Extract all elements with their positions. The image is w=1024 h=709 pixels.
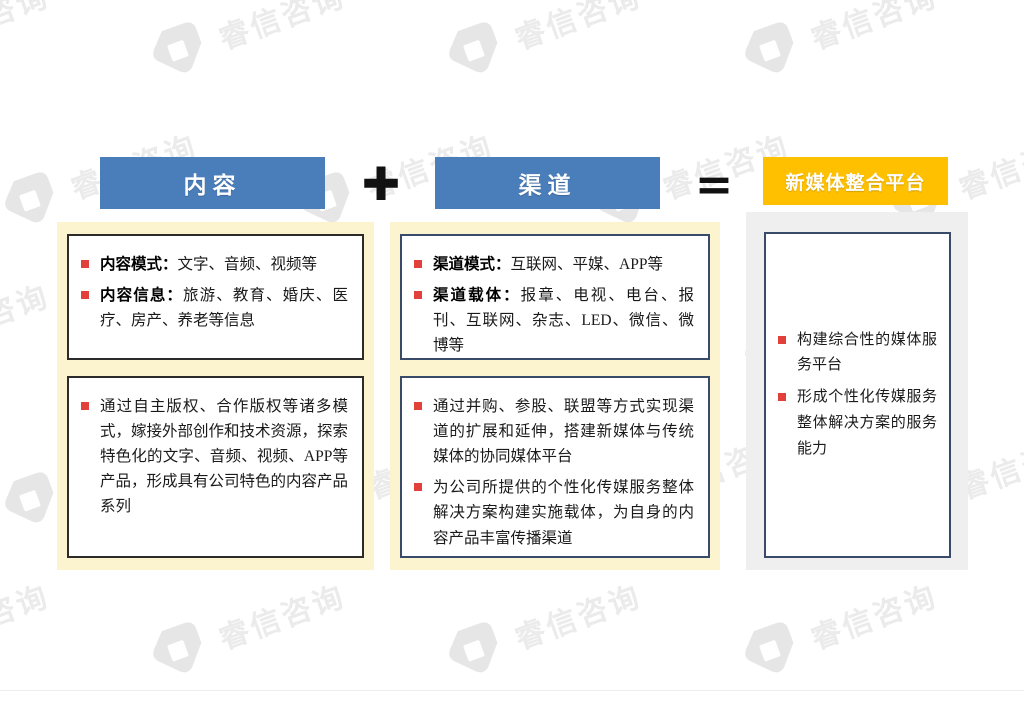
header-bar-content: 内容 [100, 157, 325, 209]
bottom-divider [0, 690, 1024, 691]
list-item: 形成个性化传媒服务整体解决方案的服务能力 [776, 385, 937, 462]
header-bar-platform: 新媒体整合平台 [763, 157, 948, 205]
bullet-text: 互联网、平媒、APP等 [511, 256, 663, 273]
header-label-channel: 渠道 [519, 166, 577, 200]
platform-main-box: 构建综合性的媒体服务平台 形成个性化传媒服务整体解决方案的服务能力 [764, 232, 951, 558]
list-item: 构建综合性的媒体服务平台 [776, 328, 937, 380]
bullet-text: 通过并购、参股、联盟等方式实现渠道的扩展和延伸，搭建新媒体与传统媒体的协同媒体平… [433, 398, 694, 465]
list-item: 渠道载体：报章、电视、电台、报刊、互联网、杂志、LED、微信、微博等 [412, 283, 694, 358]
header-label-platform: 新媒体整合平台 [785, 168, 925, 195]
list-item: 为公司所提供的个性化传媒服务整体解决方案构建实施载体，为自身的内容产品丰富传播渠… [412, 475, 694, 550]
channel-top-bullet-list: 渠道模式：互联网、平媒、APP等 渠道载体：报章、电视、电台、报刊、互联网、杂志… [412, 252, 694, 358]
bullet-text: 构建综合性的媒体服务平台 [797, 332, 937, 374]
content-top-box: 内容模式：文字、音频、视频等 内容信息：旅游、教育、婚庆、医疗、房产、养老等信息 [67, 234, 364, 360]
bullet-lead: 渠道模式： [433, 256, 511, 273]
list-item: 内容模式：文字、音频、视频等 [79, 252, 348, 277]
bullet-text: 形成个性化传媒服务整体解决方案的服务能力 [797, 389, 937, 457]
bullet-text: 通过自主版权、合作版权等诸多模式，嫁接外部创作和技术资源，探索特色化的文字、音频… [100, 398, 348, 515]
bullet-text: 文字、音频、视频等 [178, 256, 318, 273]
bullet-lead: 内容模式： [100, 256, 178, 273]
list-item: 渠道模式：互联网、平媒、APP等 [412, 252, 694, 277]
channel-bottom-box: 通过并购、参股、联盟等方式实现渠道的扩展和延伸，搭建新媒体与传统媒体的协同媒体平… [400, 376, 710, 558]
content-top-bullet-list: 内容模式：文字、音频、视频等 内容信息：旅游、教育、婚庆、医疗、房产、养老等信息 [79, 252, 348, 333]
header-bar-channel: 渠道 [435, 157, 660, 209]
bullet-lead: 内容信息： [100, 287, 183, 304]
bullet-text: 为公司所提供的个性化传媒服务整体解决方案构建实施载体，为自身的内容产品丰富传播渠… [433, 479, 694, 546]
bullet-lead: 渠道载体： [433, 287, 521, 304]
slide-canvas: 内容 ✚ 渠道 = 新媒体整合平台 内容模式：文字、音频、视频等 内容信息：旅游… [0, 0, 1024, 709]
content-bottom-box: 通过自主版权、合作版权等诸多模式，嫁接外部创作和技术资源，探索特色化的文字、音频… [67, 376, 364, 558]
channel-bottom-bullet-list: 通过并购、参股、联盟等方式实现渠道的扩展和延伸，搭建新媒体与传统媒体的协同媒体平… [412, 394, 694, 551]
platform-bullet-list: 构建综合性的媒体服务平台 形成个性化传媒服务整体解决方案的服务能力 [776, 328, 937, 463]
list-item: 内容信息：旅游、教育、婚庆、医疗、房产、养老等信息 [79, 283, 348, 333]
content-bottom-bullet-list: 通过自主版权、合作版权等诸多模式，嫁接外部创作和技术资源，探索特色化的文字、音频… [79, 394, 348, 520]
list-item: 通过并购、参股、联盟等方式实现渠道的扩展和延伸，搭建新媒体与传统媒体的协同媒体平… [412, 394, 694, 469]
channel-top-box: 渠道模式：互联网、平媒、APP等 渠道载体：报章、电视、电台、报刊、互联网、杂志… [400, 234, 710, 360]
equals-operator-icon: = [688, 160, 740, 208]
header-label-content: 内容 [184, 166, 242, 200]
plus-operator-icon: ✚ [355, 160, 407, 208]
list-item: 通过自主版权、合作版权等诸多模式，嫁接外部创作和技术资源，探索特色化的文字、音频… [79, 394, 348, 520]
